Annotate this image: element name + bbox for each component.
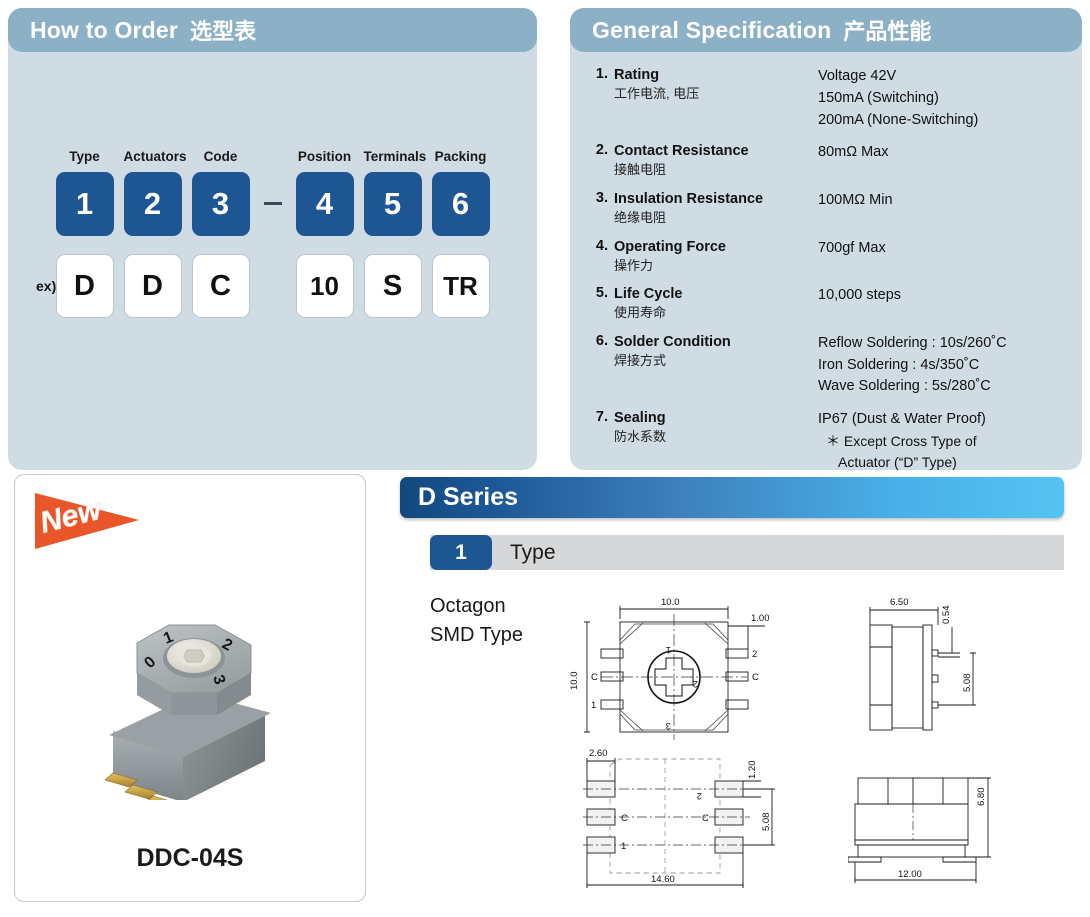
order-code-box-3[interactable]: 3: [192, 172, 250, 236]
drawing-side-view: 6.50 0.54 5.08: [848, 592, 1073, 747]
order-example-box-position[interactable]: 10: [296, 254, 354, 318]
order-label-position: Position: [298, 149, 351, 164]
spec-value: 200mA (None-Switching): [818, 110, 1068, 132]
spec-values: Reflow Soldering : 10s/260˚C Iron Solder…: [818, 333, 1068, 398]
d-series-banner: D Series: [400, 477, 1064, 518]
spec-values: IP67 (Dust & Water Proof) ＊ Except Cross…: [818, 409, 1068, 473]
order-column-labels: Type Actuators Code Position Terminals P…: [8, 148, 537, 166]
spec-row-solder-condition: 6. Solder Condition 焊接方式 Reflow Solderin…: [592, 333, 1068, 398]
order-example-box-code[interactable]: C: [192, 254, 250, 318]
spec-value: 10,000 steps: [818, 285, 1068, 307]
spec-name-en: Rating: [614, 66, 818, 84]
order-code-separator: [260, 195, 286, 213]
product-photo-image: 0 1 2 3: [65, 585, 320, 800]
spec-row-insulation-resistance: 3. Insulation Resistance 绝缘电阻 100MΩ Min: [592, 190, 1068, 227]
general-specification-panel: General Specification 产品性能 1. Rating 工作电…: [570, 8, 1082, 470]
spec-number: 2.: [592, 142, 614, 179]
spec-values: 700gf Max: [818, 238, 1068, 275]
spec-row-rating: 1. Rating 工作电流, 电压 Voltage 42V 150mA (Sw…: [592, 66, 1068, 131]
new-badge-icon: New: [33, 487, 141, 553]
spec-name-en: Insulation Resistance: [614, 190, 818, 208]
spec-name-en: Life Cycle: [614, 285, 818, 303]
spec-value: 80mΩ Max: [818, 142, 1068, 164]
spec-row-operating-force: 4. Operating Force 操作力 700gf Max: [592, 238, 1068, 275]
spec-name-cn: 操作力: [614, 257, 818, 275]
spec-name-en: Sealing: [614, 409, 818, 427]
drawing-front-view: 6.80 12.00: [848, 748, 1073, 906]
order-label-actuators: Actuators: [124, 149, 187, 164]
side-view-width-dim: 6.50: [890, 597, 909, 608]
spec-name-cn: 绝缘电阻: [614, 209, 818, 227]
spec-value: IP67 (Dust & Water Proof): [818, 409, 1068, 431]
spec-values: Voltage 42V 150mA (Switching) 200mA (Non…: [818, 66, 1068, 131]
spec-row-life-cycle: 5. Life Cycle 使用寿命 10,000 steps: [592, 285, 1068, 322]
spec-value: 150mA (Switching): [818, 88, 1068, 110]
spec-number: 1.: [592, 66, 614, 131]
order-example-box-actuators[interactable]: D: [124, 254, 182, 318]
top-view-pin-dim: 1.00: [751, 613, 770, 624]
spec-name-en: Contact Resistance: [614, 142, 818, 160]
spec-values: 80mΩ Max: [818, 142, 1068, 179]
top-view-terminal-right-2: 2: [752, 649, 757, 660]
top-view-inner-3: 3: [666, 720, 671, 731]
front-view-height-dim: 6.80: [976, 788, 987, 807]
order-code-builder: Type Actuators Code Position Terminals P…: [8, 148, 537, 318]
top-view-inner-1: 1: [666, 644, 671, 655]
spec-name-en: Operating Force: [614, 238, 818, 256]
order-example-label: ex): [36, 278, 56, 294]
drawing-top-view: 10.0 10.0 1.00 C 1 2 C 1 2 3: [565, 592, 805, 747]
pcb-overall-dim: 14.60: [651, 874, 675, 885]
type-section-label: Type: [510, 535, 556, 570]
spec-row-contact-resistance: 2. Contact Resistance 接触电阻 80mΩ Max: [592, 142, 1068, 179]
order-label-code: Code: [204, 149, 238, 164]
spec-number: 6.: [592, 333, 614, 398]
how-to-order-header: How to Order 选型表: [8, 8, 537, 52]
how-to-order-title-en: How to Order: [30, 17, 178, 44]
spec-value: 700gf Max: [818, 238, 1068, 260]
spec-name-cn: 使用寿命: [614, 304, 818, 322]
drawing-pcb-layout: 2.60 1.20 5.08 14.60 C 1 2 C: [565, 745, 810, 905]
top-view-inner-2: 2: [693, 678, 698, 689]
order-code-box-1[interactable]: 1: [56, 172, 114, 236]
spec-row-sealing: 7. Sealing 防水系数 IP67 (Dust & Water Proof…: [592, 409, 1068, 473]
side-view-pin-thickness: 0.54: [941, 606, 952, 625]
top-view-terminal-left-c: C: [591, 672, 598, 683]
pcb-pad-height-dim: 1.20: [747, 761, 758, 780]
spec-value: Reflow Soldering : 10s/260˚C: [818, 333, 1068, 355]
spec-number: 3.: [592, 190, 614, 227]
pcb-pitch-dim: 5.08: [761, 813, 772, 832]
how-to-order-panel: How to Order 选型表 Type Actuators Code Pos…: [8, 8, 537, 470]
side-view-pin-pitch: 5.08: [962, 674, 973, 693]
spec-name-cn: 防水系数: [614, 428, 818, 446]
general-specification-title-cn: 产品性能: [843, 14, 931, 46]
product-photo-card: New: [14, 474, 366, 902]
general-specification-title-en: General Specification: [592, 17, 831, 44]
type-section-number: 1: [430, 535, 492, 570]
order-example-row: ex) D D C 10 S TR: [8, 254, 537, 318]
pcb-label-left-c: C: [621, 813, 628, 824]
order-code-box-4[interactable]: 4: [296, 172, 354, 236]
pcb-pad-width-dim: 2.60: [589, 748, 608, 759]
spec-name-cn: 工作电流, 电压: [614, 85, 818, 103]
top-view-width-dim: 10.0: [661, 597, 680, 608]
top-view-height-dim: 10.0: [569, 672, 580, 691]
order-label-packing: Packing: [435, 149, 487, 164]
spec-values: 100MΩ Min: [818, 190, 1068, 227]
order-code-number-row: 1 2 3 4 5 6: [8, 172, 537, 236]
spec-name-en: Solder Condition: [614, 333, 818, 351]
type-name-line1: Octagon: [430, 592, 523, 621]
spec-number: 5.: [592, 285, 614, 322]
pcb-label-left-1: 1: [621, 841, 626, 852]
pcb-label-right-2: 2: [697, 790, 702, 801]
order-example-box-terminals[interactable]: S: [364, 254, 422, 318]
d-series-title: D Series: [418, 483, 518, 512]
order-label-terminals: Terminals: [364, 149, 427, 164]
spec-value: Wave Soldering : 5s/280˚C: [818, 376, 1068, 398]
spec-name-cn: 接触电阻: [614, 161, 818, 179]
spec-name-cn: 焊接方式: [614, 352, 818, 370]
product-name-label: DDC-04S: [15, 844, 365, 873]
spec-footnote: ＊ Except Cross Type of: [818, 431, 1068, 452]
order-example-box-type[interactable]: D: [56, 254, 114, 318]
spec-number: 4.: [592, 238, 614, 275]
spec-value: Voltage 42V: [818, 66, 1068, 88]
general-specification-header: General Specification 产品性能: [570, 8, 1082, 52]
front-view-width-dim: 12.00: [898, 869, 922, 880]
order-code-box-5[interactable]: 5: [364, 172, 422, 236]
order-code-box-6[interactable]: 6: [432, 172, 490, 236]
order-label-type: Type: [69, 149, 100, 164]
order-example-box-packing[interactable]: TR: [432, 254, 490, 318]
spec-value: Iron Soldering : 4s/350˚C: [818, 355, 1068, 377]
spec-number: 7.: [592, 409, 614, 473]
order-code-box-2[interactable]: 2: [124, 172, 182, 236]
spec-value: 100MΩ Min: [818, 190, 1068, 212]
specification-list: 1. Rating 工作电流, 电压 Voltage 42V 150mA (Sw…: [592, 66, 1068, 484]
type-name-line2: SMD Type: [430, 621, 523, 650]
how-to-order-title-cn: 选型表: [190, 14, 256, 46]
type-name-block: Octagon SMD Type: [430, 592, 523, 650]
top-view-terminal-left-1: 1: [591, 700, 596, 711]
spec-values: 10,000 steps: [818, 285, 1068, 322]
pcb-label-right-c: C: [702, 813, 709, 824]
top-view-terminal-right-c: C: [752, 672, 759, 683]
spec-footnote-cont: Actuator (“D” Type): [818, 452, 1068, 473]
